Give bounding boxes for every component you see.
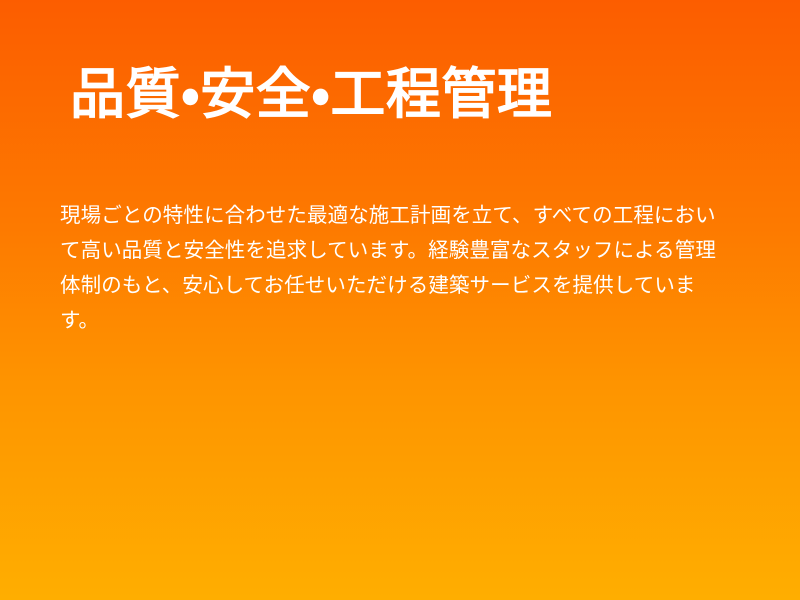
section-description: 現場ごとの特性に合わせた最適な施工計画を立て、すべての工程において高い品質と安全… <box>60 198 726 338</box>
slide-root: 品質・安全・工程管理 現場ごとの特性に合わせた最適な施工計画を立て、すべての工程… <box>0 0 800 600</box>
page-title: 品質・安全・工程管理 <box>70 62 770 127</box>
